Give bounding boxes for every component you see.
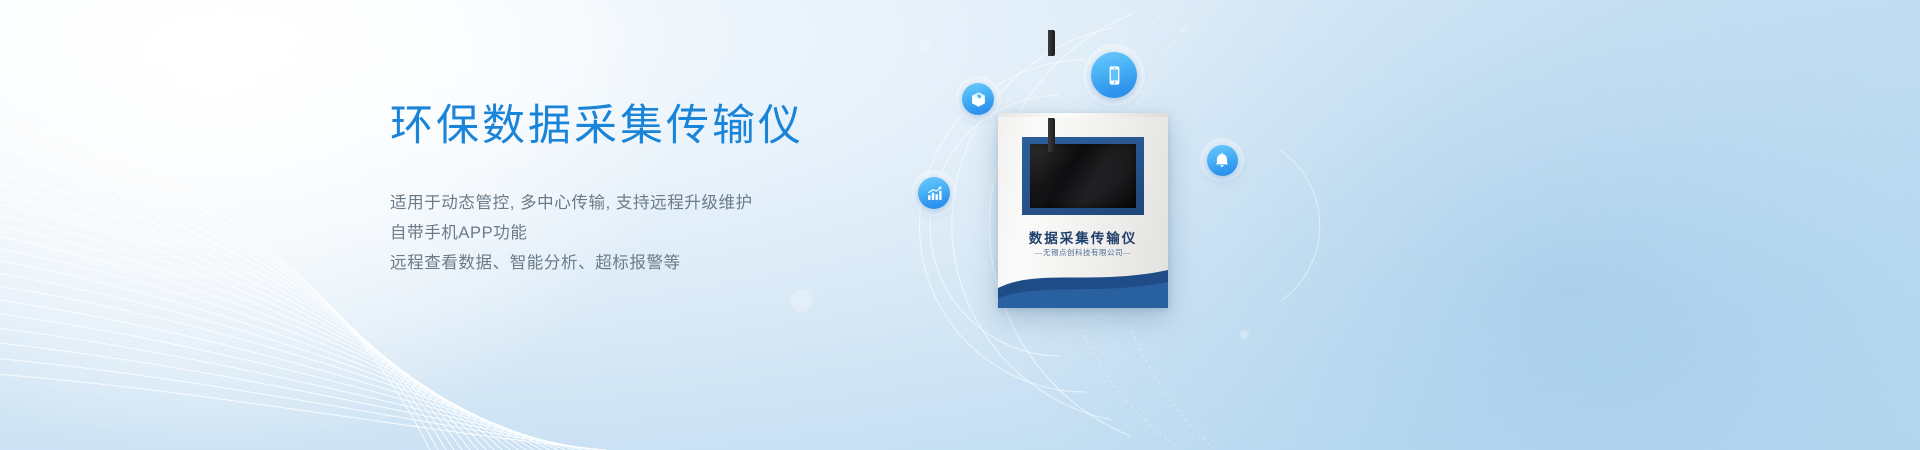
device-screen-bezel (1022, 137, 1144, 215)
bubble-core (918, 177, 950, 209)
device-company-name: —无锡点创科技有限公司— (998, 247, 1168, 258)
hero-copy: 环保数据采集传输仪 适用于动态管控, 多中心传输, 支持远程升级维护 自带手机A… (390, 100, 950, 278)
bubble-core (1091, 52, 1137, 98)
data-acquisition-device: 数据采集传输仪 —无锡点创科技有限公司— (998, 113, 1168, 308)
alarm-icon (1214, 152, 1230, 168)
device-top-edge (998, 113, 1168, 117)
device-side-port-lower (1048, 118, 1055, 152)
subtitle-line-3: 远程查看数据、智能分析、超标报警等 (390, 248, 950, 278)
decor-dot (1240, 330, 1249, 339)
box-icon-bubble[interactable] (955, 76, 1001, 122)
bubble-core (1207, 145, 1238, 176)
chart-icon (926, 185, 943, 202)
alarm-icon-bubble[interactable] (1200, 138, 1244, 182)
phone-icon-bubble[interactable] (1083, 44, 1145, 106)
subtitle-list: 适用于动态管控, 多中心传输, 支持远程升级维护 自带手机APP功能 远程查看数… (390, 188, 950, 278)
device-product-name: 数据采集传输仪 (998, 227, 1168, 247)
subtitle-line-1: 适用于动态管控, 多中心传输, 支持远程升级维护 (390, 188, 950, 218)
device-side-port-upper (1048, 30, 1055, 56)
decorative-orbit-arcs (880, 0, 1580, 450)
device-screen (1030, 144, 1136, 208)
decor-dot (790, 290, 812, 312)
phone-icon (1104, 65, 1125, 86)
device-bottom-wave (998, 266, 1168, 308)
decor-dot (920, 40, 930, 50)
box-icon (970, 91, 987, 108)
product-hero-banner: 环保数据采集传输仪 适用于动态管控, 多中心传输, 支持远程升级维护 自带手机A… (0, 0, 1920, 450)
subtitle-line-2: 自带手机APP功能 (390, 218, 950, 248)
chart-icon-bubble[interactable] (911, 170, 957, 216)
product-visual-stage: 数据采集传输仪 —无锡点创科技有限公司— (880, 0, 1580, 450)
page-title: 环保数据采集传输仪 (390, 100, 950, 152)
bubble-core (962, 83, 994, 115)
decor-dot (1180, 26, 1187, 33)
